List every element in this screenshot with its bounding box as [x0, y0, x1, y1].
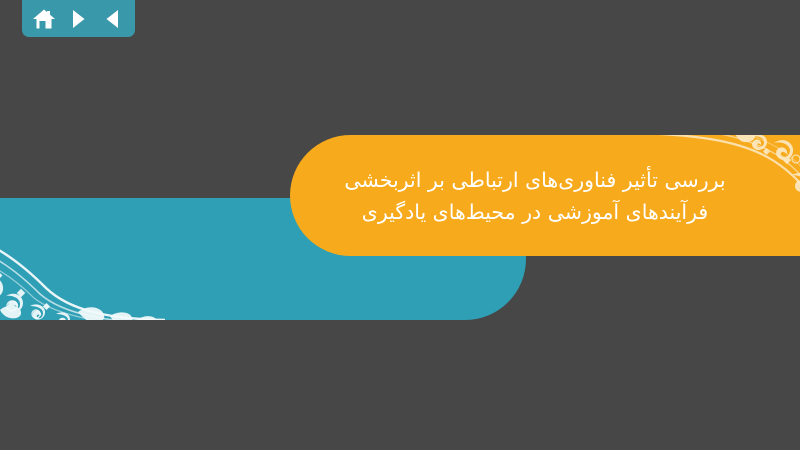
previous-slide-button[interactable]	[102, 7, 124, 31]
triangle-left-icon	[104, 9, 122, 29]
next-slide-button[interactable]	[68, 7, 90, 31]
home-button[interactable]	[33, 7, 55, 31]
arabesque-corner-ornament	[0, 198, 165, 320]
arabesque-corner-ornament	[650, 135, 800, 248]
presentation-slide: بررسی تأثیر فناوری‌های ارتباطی بر اثربخش…	[0, 0, 800, 450]
orange-title-band	[290, 135, 800, 256]
slide-navigation-bar	[22, 0, 135, 37]
triangle-right-icon	[72, 9, 86, 29]
home-icon	[32, 8, 56, 30]
